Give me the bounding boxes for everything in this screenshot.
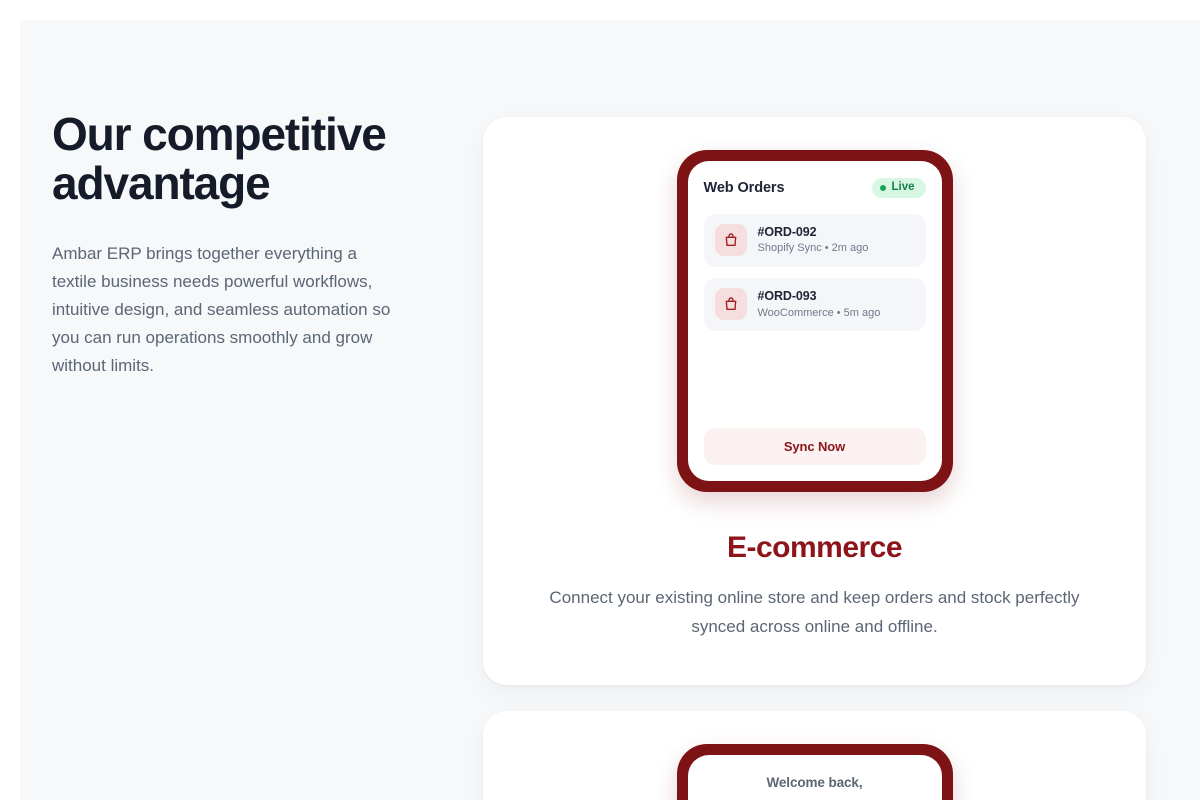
feature-card-ecommerce[interactable]: Web Orders Live: [483, 117, 1146, 685]
sync-now-button[interactable]: Sync Now: [704, 428, 926, 465]
mockup-header: Web Orders Live: [704, 178, 926, 198]
feature-cards-column: Web Orders Live: [483, 117, 1146, 800]
status-dot-icon: [880, 185, 886, 191]
status-badge-live: Live: [872, 178, 925, 198]
order-text-block: #ORD-093 WooCommerce • 5m ago: [758, 288, 881, 321]
order-meta: Shopify Sync • 2m ago: [758, 241, 869, 256]
order-list-item[interactable]: #ORD-092 Shopify Sync • 2m ago: [704, 214, 926, 267]
intro-column: Our competitive advantage Ambar ERP brin…: [52, 110, 452, 380]
mockup-title: Web Orders: [704, 180, 785, 196]
page-root: Our competitive advantage Ambar ERP brin…: [20, 20, 1200, 800]
mockup-spacer: [704, 342, 926, 428]
device-mockup-screen: Web Orders Live: [688, 161, 942, 481]
shopping-bag-icon: [715, 224, 747, 256]
order-text-block: #ORD-092 Shopify Sync • 2m ago: [758, 224, 869, 257]
welcome-message: Welcome back,: [704, 775, 926, 790]
device-mockup-screen: Welcome back,: [688, 755, 942, 800]
order-list-item[interactable]: #ORD-093 WooCommerce • 5m ago: [704, 278, 926, 331]
order-id: #ORD-093: [758, 288, 881, 305]
feature-card-next[interactable]: Welcome back,: [483, 711, 1146, 800]
card-description: Connect your existing online store and k…: [531, 583, 1098, 641]
intro-paragraph: Ambar ERP brings together everything a t…: [52, 240, 397, 380]
shopping-bag-icon: [715, 288, 747, 320]
device-mockup-frame: Welcome back,: [677, 744, 953, 800]
order-meta: WooCommerce • 5m ago: [758, 306, 881, 321]
order-id: #ORD-092: [758, 224, 869, 241]
page-title: Our competitive advantage: [52, 110, 392, 208]
device-mockup-frame: Web Orders Live: [677, 150, 953, 492]
status-badge-label: Live: [891, 182, 914, 194]
card-title: E-commerce: [531, 530, 1098, 566]
card-caption: E-commerce Connect your existing online …: [483, 530, 1146, 641]
